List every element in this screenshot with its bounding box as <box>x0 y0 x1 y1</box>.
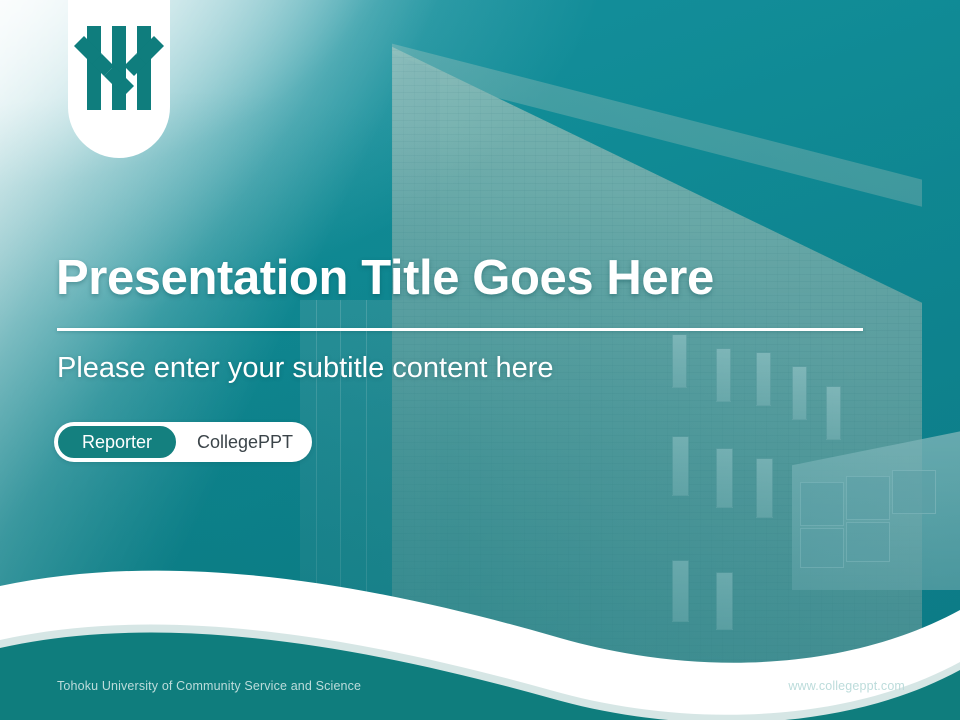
building-window <box>672 560 689 622</box>
building-window <box>716 348 731 402</box>
footer-website: www.collegeppt.com <box>788 679 905 693</box>
building-window <box>826 386 841 440</box>
building-window <box>672 334 687 388</box>
university-crest-icon <box>68 0 170 158</box>
building-window <box>716 572 733 630</box>
building-window <box>756 458 773 518</box>
building-window <box>716 448 733 508</box>
building-window <box>672 436 689 496</box>
page-title: Presentation Title Goes Here <box>56 250 714 306</box>
reporter-badge-label: Reporter <box>82 433 152 451</box>
footer-organization: Tohoku University of Community Service a… <box>57 679 361 693</box>
title-divider <box>57 328 863 331</box>
building-window <box>756 352 771 406</box>
building-window <box>792 366 807 420</box>
reporter-badge-label-pill: Reporter <box>56 424 178 460</box>
page-subtitle: Please enter your subtitle content here <box>57 352 554 385</box>
reporter-badge-value: CollegePPT <box>182 424 308 460</box>
presentation-slide: Presentation Title Goes Here Please ente… <box>0 0 960 720</box>
